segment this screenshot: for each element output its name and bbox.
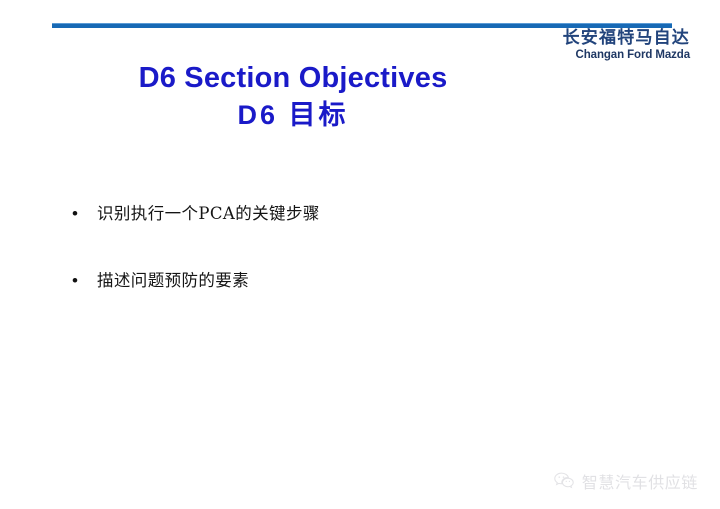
list-item: • 描述问题预防的要素 [72, 268, 632, 294]
page-title: D6 Section Objectives D6 目标 [0, 62, 586, 132]
brand-name-cn: 长安福特马自达 [563, 30, 690, 47]
page-title-english: D6 Section Objectives [0, 62, 586, 94]
bullet-marker-icon: • [72, 201, 97, 227]
watermark: 智慧汽车供应链 [553, 469, 698, 493]
bullet-marker-icon: • [72, 268, 97, 294]
slide-canvas: 长安福特马自达 Changan Ford Mazda D6 Section Ob… [0, 0, 720, 509]
list-item: • 识别执行一个PCA的关键步骤 [72, 201, 632, 227]
list-item-label: 识别执行一个PCA的关键步骤 [97, 201, 632, 227]
page-title-chinese: D6 目标 [0, 99, 586, 131]
objectives-list: • 识别执行一个PCA的关键步骤 • 描述问题预防的要素 [72, 201, 632, 294]
wechat-icon [553, 470, 575, 492]
brand-name-en: Changan Ford Mazda [563, 50, 690, 62]
list-item-label: 描述问题预防的要素 [97, 268, 632, 294]
brand-logo: 长安福特马自达 Changan Ford Mazda [563, 30, 690, 62]
watermark-label: 智慧汽车供应链 [582, 469, 698, 493]
